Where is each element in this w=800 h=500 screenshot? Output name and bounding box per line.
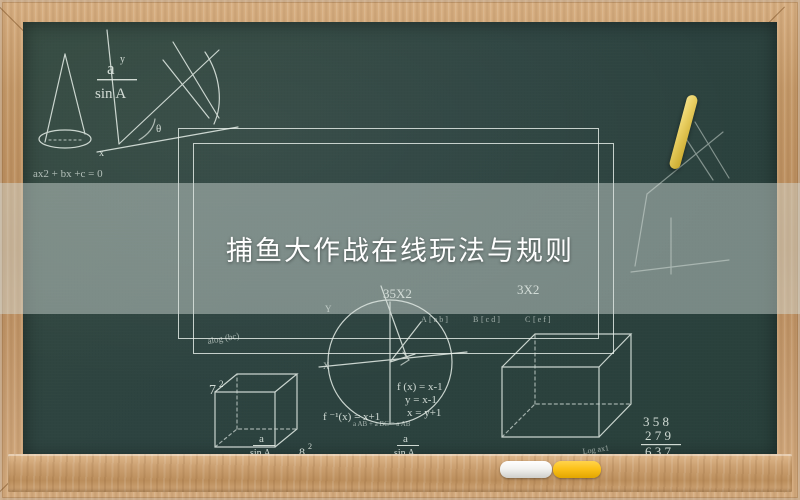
chalk-text-frac-a: a	[403, 433, 408, 445]
cone-drawing	[39, 54, 91, 148]
chalk-text-fx-3: x = y+1	[407, 407, 441, 419]
chalk-text-power7: 7	[209, 383, 216, 398]
chalk-text-frac-a2: a	[259, 433, 264, 445]
ledge-chalk-yellow-icon	[553, 461, 601, 478]
chalk-text-power7-exp: 2	[219, 379, 224, 389]
chalk-text-axis-x: x	[99, 148, 104, 159]
ledge-chalk-white-icon	[500, 461, 552, 478]
chalk-ledge	[8, 454, 792, 492]
chalk-text-quadratic: ax2 + bx +c = 0	[33, 168, 103, 180]
chalk-text-angle-theta: θ	[156, 123, 161, 135]
chalk-text-inverse: f ⁻¹(x) = x+1	[323, 411, 380, 423]
chalk-text-fraction-den: sin A	[95, 86, 126, 102]
chalk-text-sum-top: 3 5 8	[643, 414, 669, 429]
chalk-text-fraction-num: a	[107, 59, 115, 78]
headline-band: 捕鱼大作战在线玩法与规则	[0, 183, 800, 314]
chalk-text-axis-y: y	[120, 54, 125, 65]
chalkboard-banner: a sin A y x θ ax2 + bx +c = 0 2 7 f (x) …	[0, 0, 800, 500]
cube-drawing-center	[215, 374, 297, 447]
chalk-text-sum-mid: 2 7 9	[645, 428, 671, 443]
chalk-text-fx-2: y = x-1	[405, 394, 437, 406]
chalk-text-fx-1: f (x) = x-1	[397, 381, 443, 393]
chalk-text-axis-x-right: X	[323, 361, 330, 371]
page-title: 捕鱼大作战在线玩法与规则	[226, 229, 574, 268]
chalk-text-power8-exp: 2	[308, 442, 312, 451]
